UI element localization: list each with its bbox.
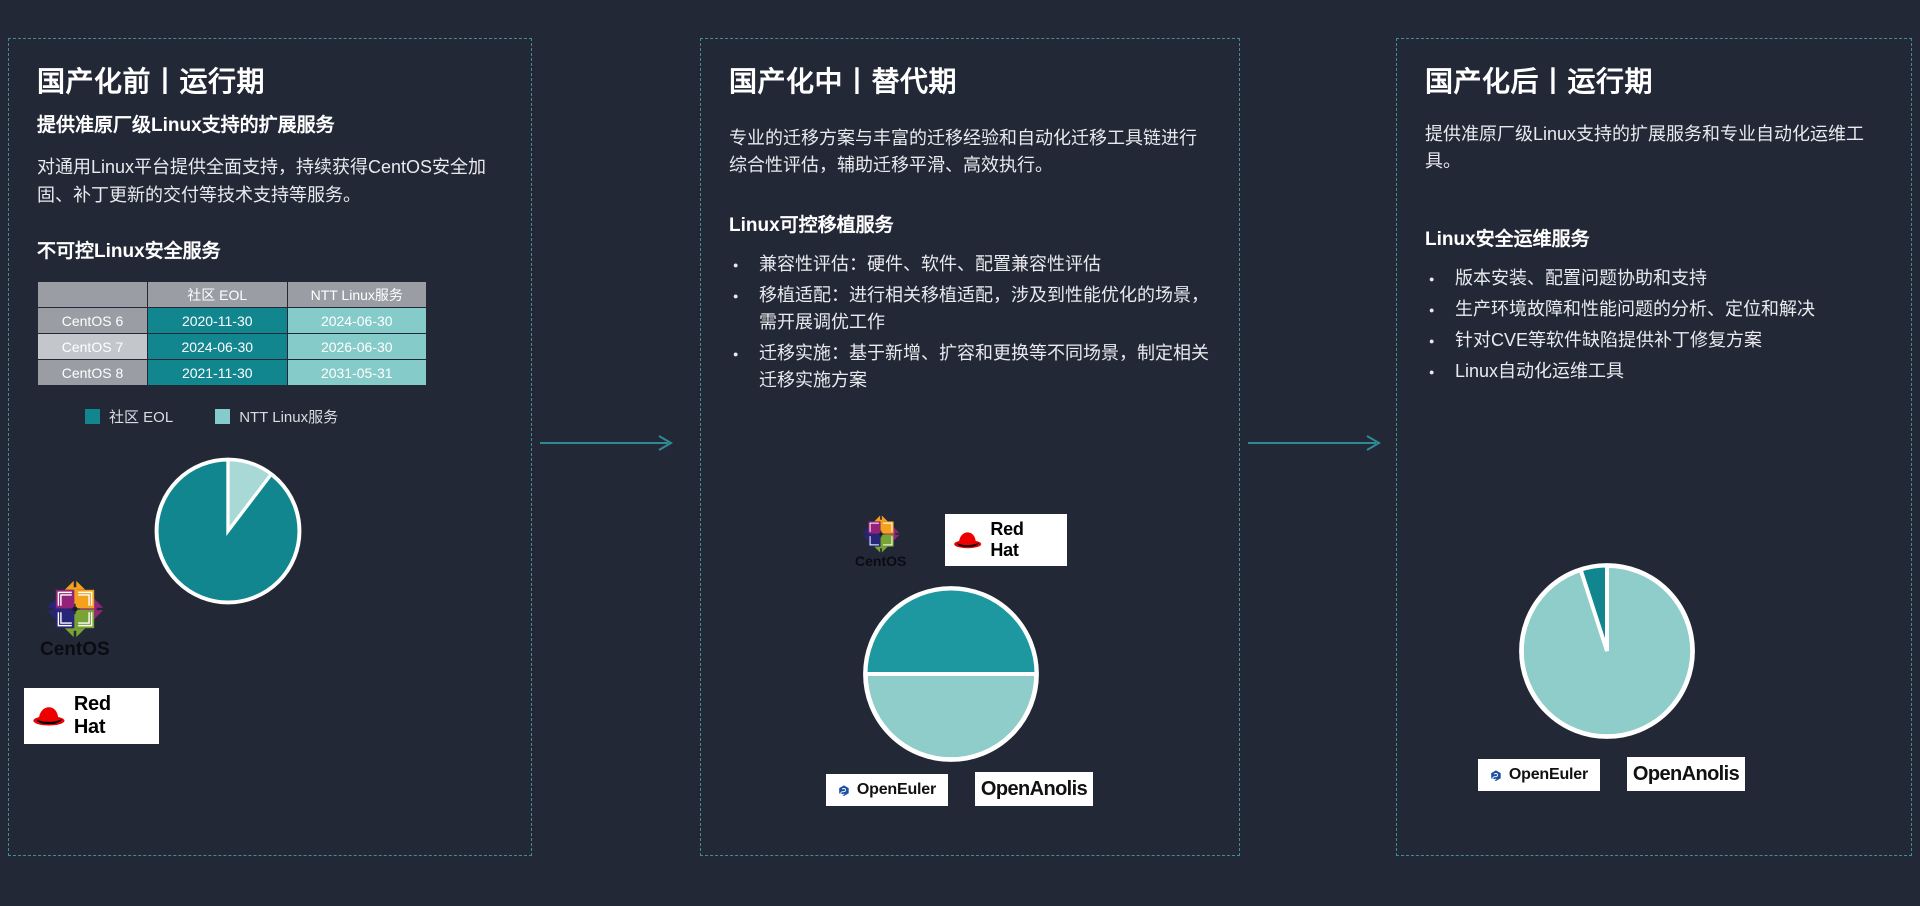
panel-body-text: 提供准原厂级Linux支持的扩展服务和专业自动化运维工具。: [1425, 121, 1883, 177]
table-cell-eol: 2024-06-30: [148, 334, 288, 360]
table-cell-ntt: 2026-06-30: [287, 334, 427, 360]
table-row-name: CentOS 7: [38, 334, 148, 360]
openeuler-logo-label: OpenEuler: [1509, 766, 1588, 784]
openeuler-logo-label: OpenEuler: [857, 781, 936, 799]
redhat-logo: Red Hat: [24, 688, 159, 744]
panel-title: 国产化前丨运行期: [37, 65, 503, 99]
openanolis-logo-label: OpenAnolis: [1633, 763, 1739, 786]
openeuler-logo: OpenEuler: [826, 774, 948, 806]
chart-legend: 社区 EOL NTT Linux服务: [37, 406, 503, 427]
centos-eol-table: 社区 EOL NTT Linux服务 CentOS 6 2020-11-30 2…: [37, 281, 427, 386]
table-row-name: CentOS 6: [38, 308, 148, 334]
service-bullet-list: 兼容性评估：硬件、软件、配置兼容性评估 移植适配：进行相关移植适配，涉及到性能优…: [729, 251, 1211, 394]
table-row: CentOS 6 2020-11-30 2024-06-30: [38, 308, 427, 334]
arrow-connector-1: [540, 432, 680, 454]
table-row: CentOS 7 2024-06-30 2026-06-30: [38, 334, 427, 360]
list-item: Linux自动化运维工具: [1425, 358, 1883, 385]
openanolis-logo: OpenAnolis: [1627, 757, 1745, 791]
redhat-fedora-icon: [32, 704, 66, 728]
slide-canvas: 国产化前丨运行期 提供准原厂级Linux支持的扩展服务 对通用Linux平台提供…: [0, 0, 1920, 906]
pie-chart-before: [152, 455, 304, 607]
section-heading: Linux可控移植服务: [729, 210, 1211, 237]
table-cell-ntt: 2031-05-31: [287, 360, 427, 386]
list-item: 针对CVE等软件缺陷提供补丁修复方案: [1425, 327, 1883, 354]
openeuler-mark-icon: [838, 780, 850, 801]
table-row: CentOS 8 2021-11-30 2031-05-31: [38, 360, 427, 386]
table-header-row: 社区 EOL NTT Linux服务: [38, 282, 427, 308]
section-heading: Linux安全运维服务: [1425, 224, 1883, 251]
openanolis-logo-label: OpenAnolis: [981, 778, 1087, 801]
redhat-logo-label: Red Hat: [990, 519, 1055, 561]
table-corner-cell: [38, 282, 148, 308]
service-bullet-list: 版本安装、配置问题协助和支持 生产环境故障和性能问题的分析、定位和解决 针对CV…: [1425, 265, 1883, 385]
centos-logo: CentOS: [40, 577, 110, 661]
section-heading: 不可控Linux安全服务: [37, 236, 503, 263]
list-item: 移植适配：进行相关移植适配，涉及到性能优化的场景，需开展调优工作: [729, 282, 1211, 336]
list-item: 生产环境故障和性能问题的分析、定位和解决: [1425, 296, 1883, 323]
panel-body-text: 专业的迁移方案与丰富的迁移经验和自动化迁移工具链进行综合性评估，辅助迁移平滑、高…: [729, 125, 1211, 181]
panel-body-text: 对通用Linux平台提供全面支持，持续获得CentOS安全加固、补丁更新的交付等…: [37, 154, 503, 210]
panel-title: 国产化中丨替代期: [729, 65, 1211, 99]
centos-logo-label: CentOS: [855, 553, 906, 569]
redhat-logo: Red Hat: [945, 514, 1067, 566]
centos-mark-icon: [860, 513, 902, 555]
legend-item-eol: 社区 EOL: [85, 406, 173, 427]
arrow-connector-2: [1248, 432, 1388, 454]
legend-label: 社区 EOL: [109, 406, 173, 427]
centos-mark-icon: [43, 577, 107, 641]
table-header-ntt: NTT Linux服务: [287, 282, 427, 308]
table-row-name: CentOS 8: [38, 360, 148, 386]
table-header-eol: 社区 EOL: [148, 282, 288, 308]
panel-subtitle: 提供准原厂级Linux支持的扩展服务: [37, 113, 503, 139]
table-cell-ntt: 2024-06-30: [287, 308, 427, 334]
pie-chart-during: [860, 583, 1042, 765]
list-item: 版本安装、配置问题协助和支持: [1425, 265, 1883, 292]
list-item: 兼容性评估：硬件、软件、配置兼容性评估: [729, 251, 1211, 278]
legend-swatch-icon: [215, 409, 230, 424]
list-item: 迁移实施：基于新增、扩容和更换等不同场景，制定相关迁移实施方案: [729, 340, 1211, 394]
centos-logo: CentOS: [855, 513, 906, 569]
openeuler-logo: OpenEuler: [1478, 759, 1600, 791]
redhat-fedora-icon: [953, 529, 982, 551]
openanolis-logo: OpenAnolis: [975, 772, 1093, 806]
legend-item-ntt: NTT Linux服务: [215, 406, 338, 427]
openeuler-mark-icon: [1490, 765, 1502, 786]
centos-logo-label: CentOS: [40, 639, 110, 661]
legend-label: NTT Linux服务: [239, 406, 338, 427]
legend-swatch-icon: [85, 409, 100, 424]
table-cell-eol: 2021-11-30: [148, 360, 288, 386]
panel-title: 国产化后丨运行期: [1425, 65, 1883, 99]
table-cell-eol: 2020-11-30: [148, 308, 288, 334]
pie-chart-after: [1516, 560, 1698, 742]
redhat-logo-label: Red Hat: [74, 693, 147, 739]
